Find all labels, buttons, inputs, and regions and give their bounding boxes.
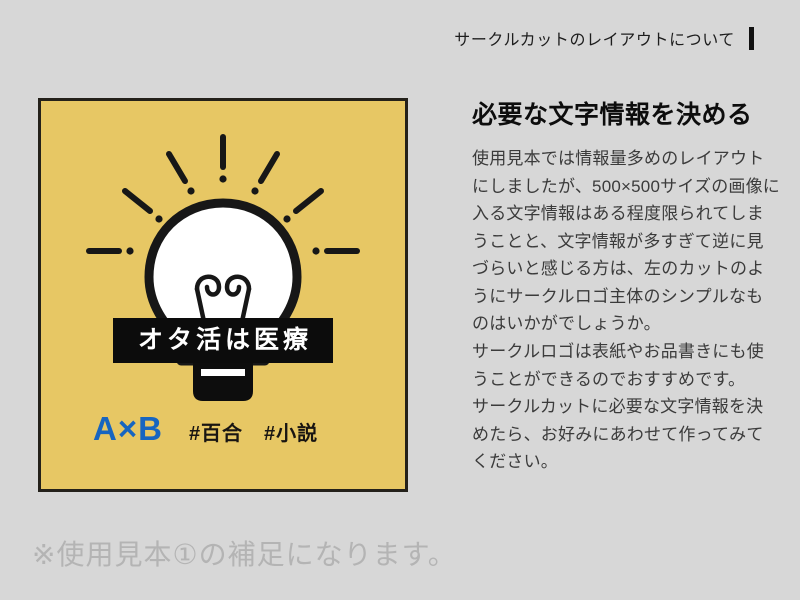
content-body: 使用見本では情報量多めのレイアウトにしましたが、500×500サイズの画像に入る… xyxy=(472,145,780,475)
lightbulb-icon xyxy=(73,129,373,409)
slide-header: サークルカットのレイアウトについて xyxy=(454,26,754,50)
pairing-label: A×B xyxy=(93,412,163,445)
header-title: サークルカットのレイアウトについて xyxy=(454,26,735,50)
card-footer: A×B #百合 #小説 xyxy=(93,412,318,445)
vertical-bar-icon xyxy=(749,27,754,50)
content-paragraph: サークルカットに必要な文字情報を決めたら、お好みにあわせて作ってみてください。 xyxy=(472,393,780,476)
content-column: 必要な文字情報を決める 使用見本では情報量多めのレイアウトにしましたが、500×… xyxy=(472,100,780,476)
circle-name-text: オタ活は医療 xyxy=(134,328,312,353)
circle-name-banner: オタ活は医療 xyxy=(113,318,333,363)
content-paragraph: 使用見本では情報量多めのレイアウトにしましたが、500×500サイズの画像に入る… xyxy=(472,145,780,338)
genre-tags-label: #百合 #小説 xyxy=(189,424,318,444)
content-heading: 必要な文字情報を決める xyxy=(472,100,780,131)
footnote-caption: ※使用見本①の補足になります。 xyxy=(32,538,457,572)
content-paragraph: サークルロゴは表紙やお品書きにも使うことができるのでおすすめです。 xyxy=(472,338,780,393)
sample-circle-cut-card: オタ活は医療 A×B #百合 #小説 xyxy=(38,98,408,492)
